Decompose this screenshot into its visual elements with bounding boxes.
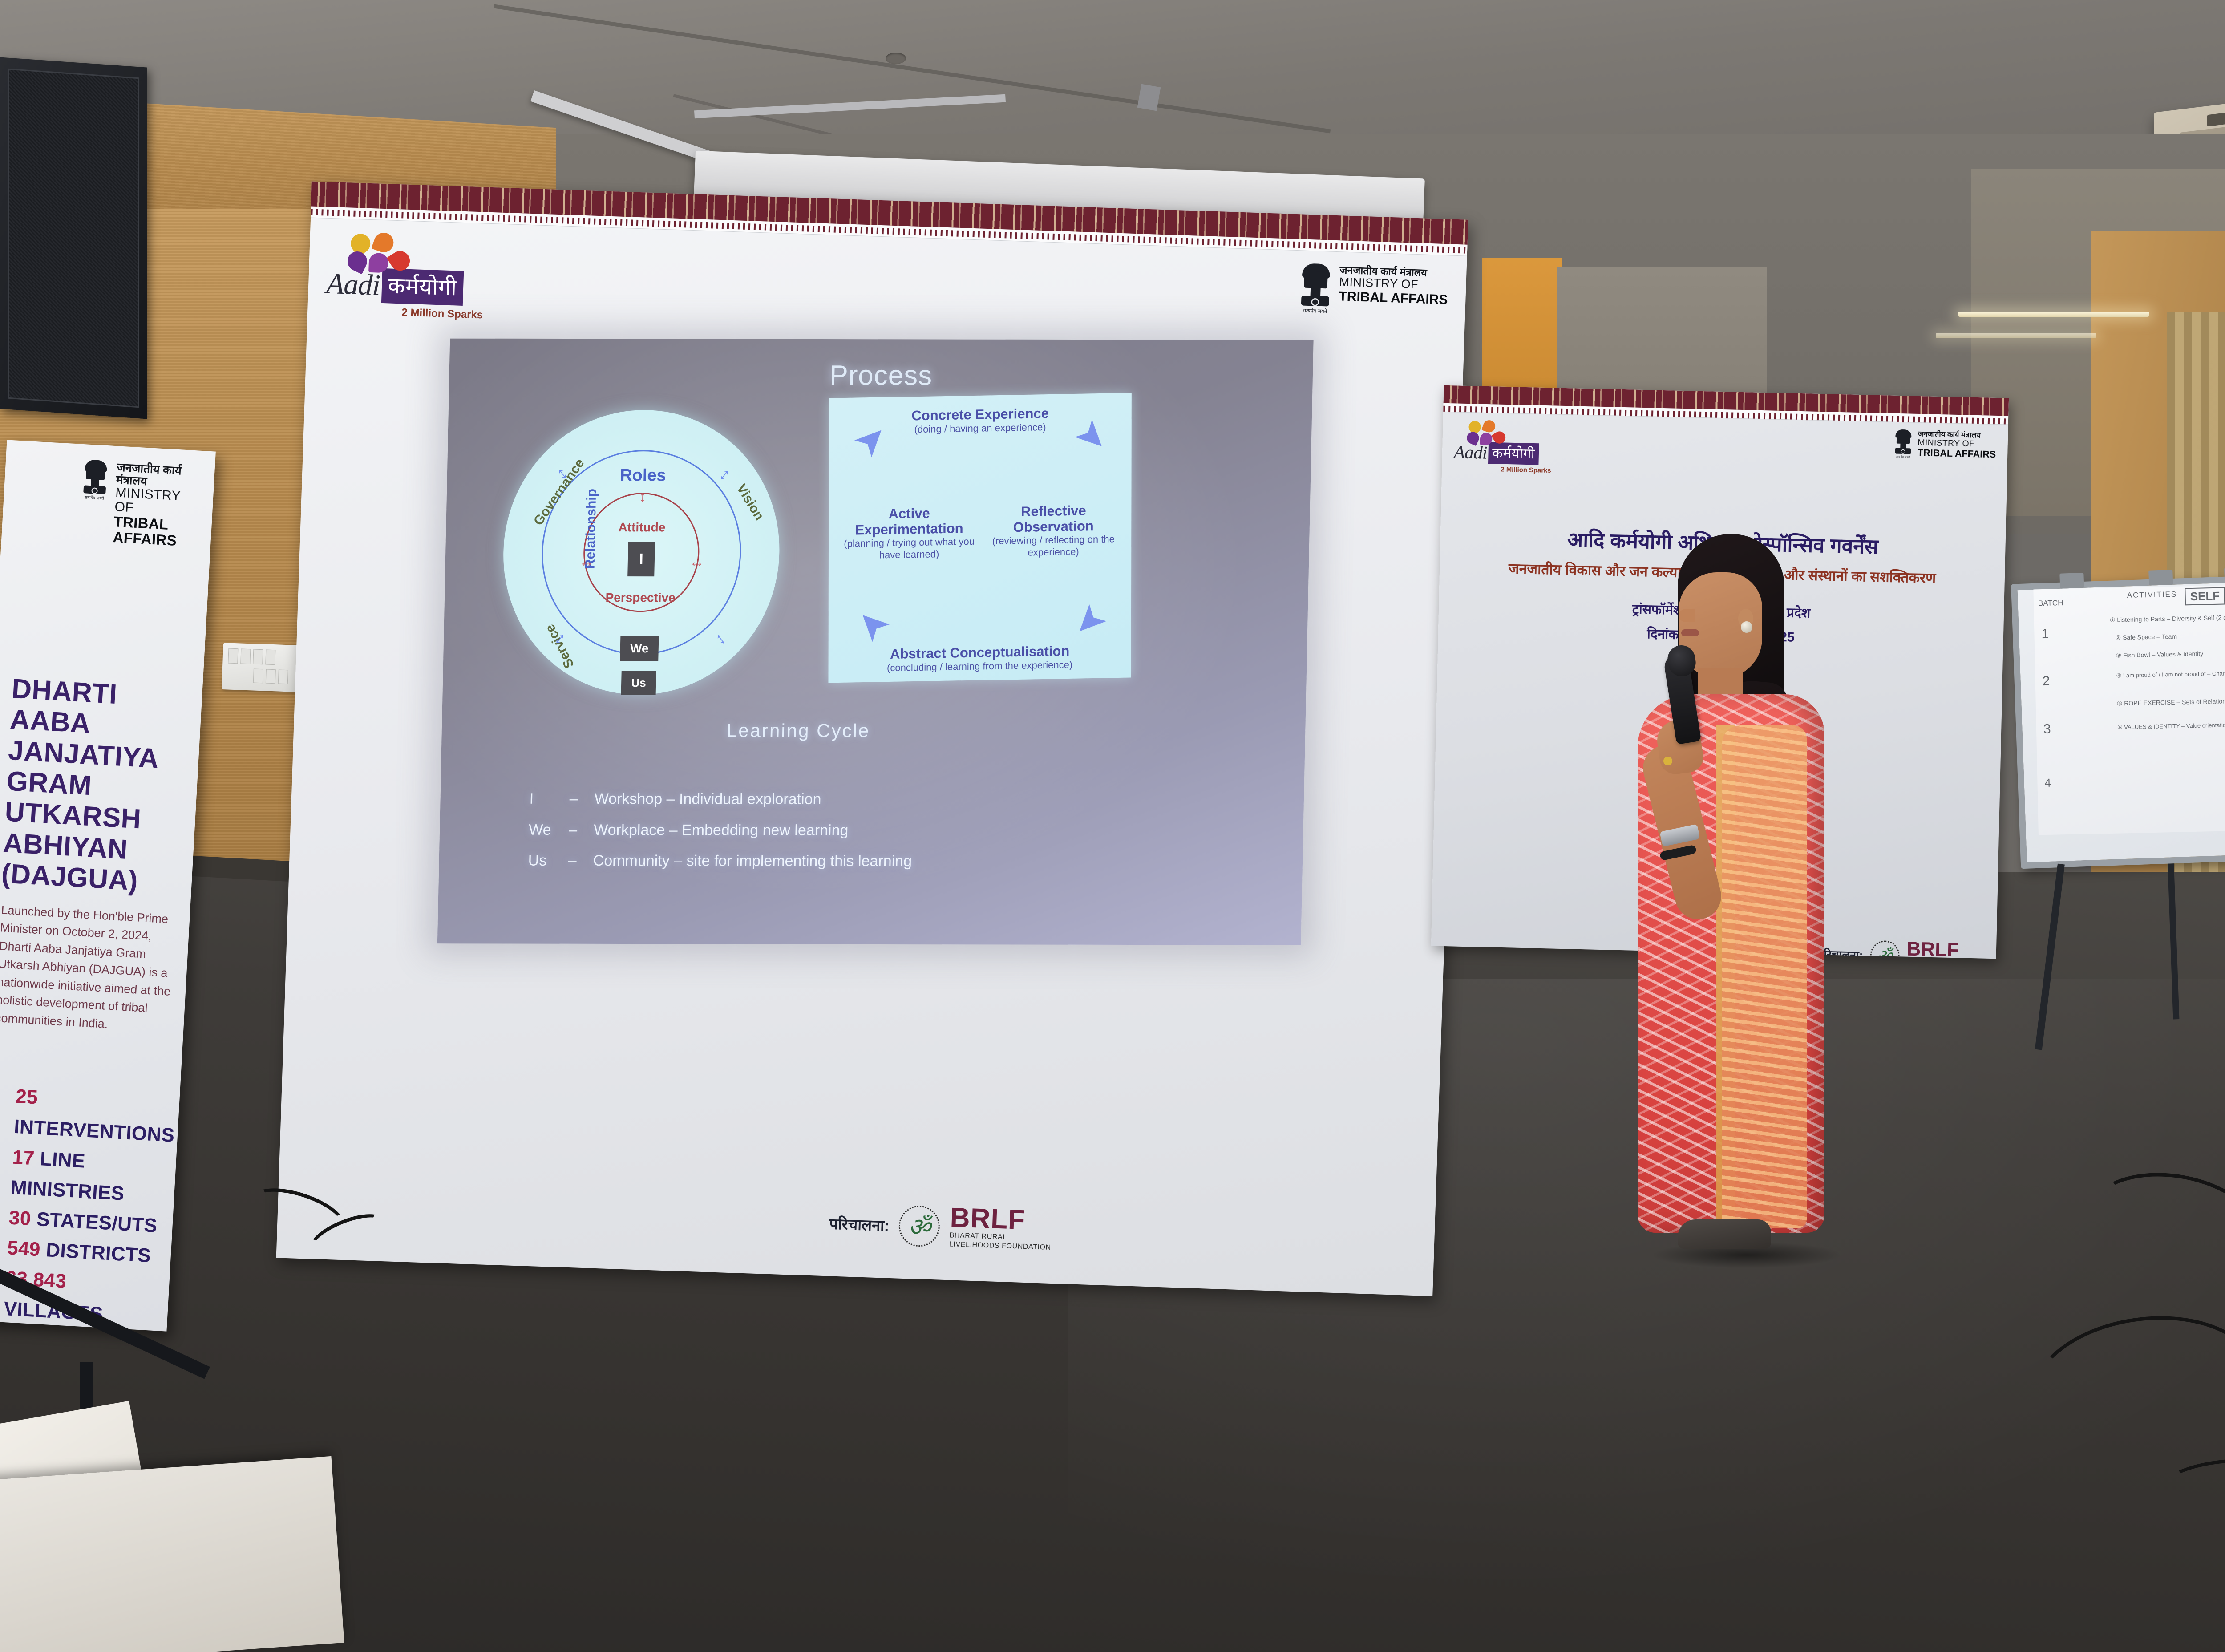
easel-row-number: 2 [2042, 674, 2050, 689]
slide-bullet-list: I–Workshop – Individual exploration We–W… [528, 784, 914, 878]
easel-note: ④ I am proud of / I am not proud of – Ch… [2116, 670, 2225, 679]
ashoka-emblem-icon: सत्यमेव जयते [1298, 263, 1334, 312]
bullet-text: Workshop – Individual exploration [594, 790, 821, 808]
ministry-en-line2: TRIBAL AFFAIRS [1918, 448, 1996, 460]
bullet-key: Us [528, 846, 568, 877]
cycle-arrow-icon: ➤ [847, 601, 897, 651]
easel-row-number: 4 [2044, 776, 2051, 790]
list-item: 25 INTERVENTIONS [13, 1081, 169, 1150]
stat-value: 25 [15, 1085, 38, 1109]
bullet-key: I [529, 784, 570, 815]
strip-light [1958, 312, 2149, 317]
wall-speaker [0, 57, 147, 419]
presenter [1611, 534, 1860, 1291]
self-circle-diagram: Governance Vision Service Relationship R… [501, 410, 783, 695]
photo-scene: सत्यमेव जयते जनजातीय कार्य मंत्रालय MINI… [0, 0, 2225, 1652]
stat-value: 17 [12, 1146, 35, 1169]
presenter-lips [1681, 629, 1699, 636]
karmayogi-people-icon [1467, 420, 1514, 447]
standee-title: DHARTI AABA JANJATIYA GRAM UTKARSH ABHIY… [0, 673, 191, 899]
standee-title-line2: UTKARSH ABHIYAN (DAJGUA) [0, 797, 142, 897]
cycle-stage-abstract-conceptualisation: Abstract Conceptualisation (concluding /… [882, 644, 1078, 674]
brlf-flame-icon: ॐ [1870, 940, 1900, 959]
center-label-attitude: Attitude [618, 520, 665, 534]
bullet-text: Workplace – Embedding new learning [594, 822, 849, 839]
bullet-dash: – [569, 784, 595, 815]
easel-note: ③ Fish Bowl – Values & Identity [2116, 650, 2203, 660]
brlf-wordmark: BRLF [1906, 940, 1985, 959]
aadi-karmayogi-logo: Aadi कर्मयोगी 2 Million Sparks [1453, 419, 1554, 474]
bullet-key: We [528, 814, 569, 846]
easel-column-header: ACTIVITIES [2127, 590, 2177, 600]
center-label-perspective: Perspective [605, 591, 676, 605]
flipchart-easel: BATCH ACTIVITIES SELF 1 2 3 4 ① Listenin… [2011, 573, 2225, 869]
projection-backdrop: Aadi कर्मयोगी 2 Million Sparks सत्यमेव ज… [276, 182, 1468, 1296]
emblem-motto: सत्यमेव जयते [1893, 454, 1913, 459]
easel-note: ② Safe Space – Team [2116, 633, 2177, 642]
stat-value: 549 [7, 1237, 41, 1260]
inner-arrow-icon: ↔ [578, 553, 594, 571]
ministry-lockup: सत्यमेव जयते जनजातीय कार्य मंत्रालय MINI… [1893, 429, 1996, 460]
brlf-wordmark: BRLF [950, 1203, 1026, 1236]
saree-pallu [1722, 725, 1807, 1228]
ministry-lockup: सत्यमेव जयते जनजातीय कार्य मंत्रालय MINI… [1305, 263, 1449, 308]
logo-tagline: 2 Million Sparks [1453, 465, 1551, 474]
presenter-nose [1679, 609, 1695, 622]
list-item: We–Workplace – Embedding new learning [528, 814, 913, 846]
easel-note: ⑤ ROPE EXERCISE – Sets of Relationship [2117, 697, 2225, 708]
chip-us: Us [621, 671, 656, 695]
foreground-table [0, 1456, 344, 1652]
stat-label: INTERVENTIONS [13, 1116, 175, 1146]
paper-clip-icon [2148, 570, 2173, 586]
ashoka-emblem-icon: सत्यमेव जयते [1893, 429, 1913, 458]
inner-arrow-icon: ↕ [639, 488, 647, 506]
easel-note: ⑥ VALUES & IDENTITY – Value orientation … [2117, 721, 2225, 731]
ministry-en-line2: TRIBAL AFFAIRS [1339, 289, 1448, 307]
slide-title: Process [449, 359, 1313, 392]
ceiling-smoke-detector [886, 53, 906, 64]
kolb-learning-cycle-box: ➤ ➤ ➤ ➤ Concrete Experience (doing / hav… [828, 393, 1131, 683]
cycle-stage-reflective-observation: Reflective Observation (reviewing / refl… [980, 502, 1127, 559]
cycle-stage-active-experimentation: Active Experimentation (planning / tryin… [836, 505, 983, 562]
projected-slide: Process Governance Vision Service Relati… [437, 339, 1314, 945]
left-board-footer: परिचालना: ॐ BRLF BHARAT RURAL LIVELIHOOD… [829, 1201, 1052, 1252]
footer-prefix: परिचालना: [829, 1213, 890, 1235]
brlf-flame-icon: ॐ [898, 1205, 941, 1247]
paper-clip-icon [2059, 573, 2084, 589]
aadi-karmayogi-logo: Aadi कर्मयोगी 2 Million Sparks [325, 231, 488, 322]
easel-row-number: 3 [2043, 722, 2051, 737]
stage-title: Reflective Observation [980, 502, 1127, 536]
emblem-motto: सत्यमेव जयते [80, 494, 108, 501]
stage-note: (reviewing / reflecting on the experienc… [980, 533, 1127, 559]
stage-note: (planning / trying out what you have lea… [836, 536, 983, 562]
speaker-grille [8, 69, 139, 408]
chip-i: I [627, 542, 655, 576]
ministry-en-line2: TRIBAL AFFAIRS [113, 514, 201, 550]
bullet-text: Community – site for implementing this l… [593, 852, 912, 870]
ashoka-emblem-icon: सत्यमेव जयते [81, 459, 110, 499]
easel-heading: SELF [2185, 587, 2225, 605]
chip-we: We [620, 636, 659, 661]
stat-label: DISTRICTS [45, 1239, 151, 1267]
stage-title: Active Experimentation [836, 505, 983, 538]
standee-title-line1: DHARTI AABA JANJATIYA GRAM [6, 673, 159, 802]
emblem-motto: सत्यमेव जयते [1298, 307, 1332, 315]
bullet-dash: – [568, 846, 593, 877]
ceiling-projector [1137, 84, 1161, 111]
bullet-dash: – [568, 815, 594, 846]
inner-arrow-icon: ↔ [689, 553, 704, 571]
presenter-footwear [1678, 1219, 1771, 1249]
list-item: 17 LINE MINISTRIES [10, 1142, 165, 1211]
presenter-earring [1741, 621, 1752, 633]
ring-label-roles: Roles [620, 466, 666, 485]
easel-note: ① Listening to Parts – Diversity & Self … [2110, 614, 2225, 624]
list-item: Us–Community – site for implementing thi… [528, 846, 912, 877]
list-item: I–Workshop – Individual exploration [529, 784, 914, 815]
strip-light-secondary [1936, 333, 2096, 338]
stat-label: STATES/UTS [36, 1208, 158, 1237]
flipchart-paper: BATCH ACTIVITIES SELF 1 2 3 4 ① Listenin… [2033, 583, 2225, 835]
cycle-arrow-icon: ➤ [1068, 411, 1117, 461]
stat-value: 30 [8, 1207, 32, 1230]
karmayogi-people-icon [347, 231, 424, 277]
standee-intro: Launched by the Hon'ble Prime Minister o… [0, 901, 178, 1037]
cycle-stage-concrete-experience: Concrete Experience (doing / having an e… [886, 405, 1073, 436]
easel-column-left: BATCH [2038, 599, 2063, 608]
ceiling-seam [494, 4, 1331, 134]
presenter-ring [1663, 757, 1672, 765]
logo-tagline: 2 Million Sparks [325, 304, 483, 322]
easel-row-number: 1 [2041, 627, 2049, 642]
learning-cycle-label: Learning Cycle [726, 720, 870, 742]
cycle-arrow-icon: ➤ [1065, 597, 1115, 647]
